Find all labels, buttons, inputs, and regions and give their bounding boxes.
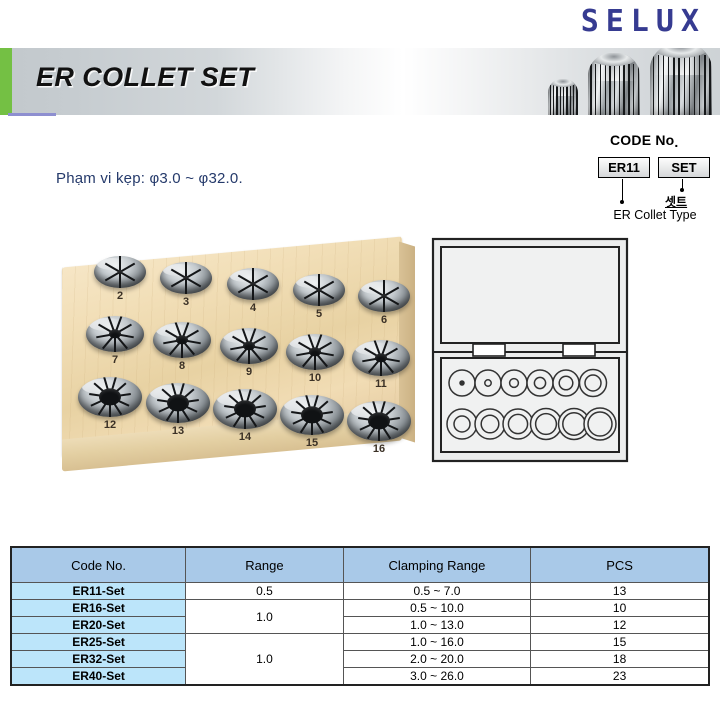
- banner-collet-slit: [573, 85, 574, 115]
- banner-collet-slit: [570, 85, 571, 115]
- leader-dot-left: [620, 200, 624, 204]
- collet-bore: [167, 394, 189, 411]
- collet-9: 9: [220, 328, 278, 364]
- col-header-clamping-range: Clamping Range: [343, 547, 530, 583]
- collet-number-label: 11: [352, 378, 410, 390]
- collet-number-label: 6: [358, 314, 410, 326]
- collet-body: [94, 256, 146, 288]
- banner-accent-bar: [0, 48, 12, 115]
- collet-15: 15: [280, 395, 344, 435]
- collet-number-label: 12: [78, 419, 142, 431]
- collet-slit: [185, 278, 187, 294]
- cell-pcs: 18: [531, 651, 709, 668]
- collet-body: [153, 322, 211, 358]
- cell-pcs: 13: [531, 583, 709, 600]
- collet-bore: [99, 388, 121, 405]
- banner-collet-slit: [560, 85, 561, 115]
- collet-body: [213, 389, 277, 429]
- code-no-legend-title: CODE No.: [610, 132, 679, 148]
- collet-number-label: 15: [280, 437, 344, 449]
- banner-underline: [8, 113, 56, 116]
- collet-6: 6: [358, 280, 410, 312]
- table-row: ER32-Set2.0 ~ 20.018: [11, 651, 709, 668]
- banner-collet-slit: [609, 64, 610, 115]
- banner-collet-slit: [550, 85, 551, 115]
- collet-slit: [252, 284, 254, 300]
- collet-slit: [318, 290, 320, 306]
- cell-code-no: ER25-Set: [11, 634, 186, 651]
- banner-collet-slit: [566, 85, 567, 115]
- banner-collet-slit: [553, 85, 554, 115]
- cell-range: 0.5: [186, 583, 344, 600]
- banner-collet-slit: [668, 55, 669, 115]
- collet-bore: [184, 276, 189, 280]
- leader-line-left: [622, 179, 623, 201]
- spec-table-header-row: Code No. Range Clamping Range PCS: [11, 547, 709, 583]
- cell-code-no: ER16-Set: [11, 600, 186, 617]
- collet-5: 5: [293, 274, 345, 306]
- table-row: ER20-Set1.0 ~ 13.012: [11, 617, 709, 634]
- banner-collet-3: [650, 48, 712, 115]
- spec-table: Code No. Range Clamping Range PCS ER11-S…: [10, 546, 710, 686]
- banner-collet-slit: [689, 55, 690, 115]
- collet-number-label: 7: [86, 354, 144, 366]
- banner-collet-slit: [663, 55, 664, 115]
- leader-dot-right: [680, 188, 684, 192]
- code-type-caption: ER Collet Type: [596, 208, 714, 222]
- cell-clamping-range: 0.5 ~ 10.0: [343, 600, 530, 617]
- banner-collet-slit: [605, 64, 606, 115]
- collet-body: [280, 395, 344, 435]
- title-banner: ER COLLET SET: [0, 48, 720, 115]
- banner-collet-top: [591, 53, 637, 66]
- collet-8: 8: [153, 322, 211, 358]
- collet-bore: [234, 400, 256, 417]
- collet-13: 13: [146, 383, 210, 423]
- collet-case-drawing: [430, 236, 630, 464]
- cell-pcs: 10: [531, 600, 709, 617]
- collet-10: 10: [286, 334, 344, 370]
- banner-collet-slit: [590, 64, 591, 115]
- collet-3: 3: [160, 262, 212, 294]
- collet-4: 4: [227, 268, 279, 300]
- banner-collet-slit: [576, 85, 577, 115]
- banner-collet-slit: [628, 64, 629, 115]
- banner-collet-slit: [678, 55, 679, 115]
- collet-2: 2: [94, 256, 146, 288]
- collet-bore: [118, 270, 123, 274]
- table-row: ER40-Set3.0 ~ 26.023: [11, 668, 709, 686]
- spec-table-body: ER11-Set0.50.5 ~ 7.013ER16-Set1.00.5 ~ 1…: [11, 583, 709, 686]
- spec-table-wrapper: Code No. Range Clamping Range PCS ER11-S…: [10, 546, 710, 686]
- collet-body: [293, 274, 345, 306]
- cell-code-no: ER11-Set: [11, 583, 186, 600]
- collet-number-label: 16: [347, 443, 411, 455]
- collet-body: [86, 316, 144, 352]
- banner-collet-slit: [623, 64, 624, 115]
- banner-collet-slit: [563, 85, 564, 115]
- cell-pcs: 23: [531, 668, 709, 686]
- collet-bore: [251, 282, 256, 286]
- collet-number-label: 9: [220, 366, 278, 378]
- collet-number-label: 5: [293, 308, 345, 320]
- collet-body: [78, 377, 142, 417]
- collet-slit: [119, 272, 121, 288]
- collet-body: [286, 334, 344, 370]
- banner-collet-slit: [694, 55, 695, 115]
- collet-slit: [383, 296, 385, 312]
- cell-code-no: ER20-Set: [11, 617, 186, 634]
- collet-number-label: 4: [227, 302, 279, 314]
- cell-code-no: ER40-Set: [11, 668, 186, 686]
- banner-collet-slit: [709, 55, 710, 115]
- collet-number-label: 13: [146, 425, 210, 437]
- collet-bore: [301, 406, 323, 423]
- collet-12: 12: [78, 377, 142, 417]
- logo-bar: SELUX: [0, 0, 720, 48]
- collet-number-label: 3: [160, 296, 212, 308]
- code-no-legend: CODE No. ER11 SET 셋트 ER Collet Type: [596, 132, 714, 224]
- code-box-set: SET: [658, 157, 710, 178]
- collet-bore: [382, 294, 387, 298]
- cell-pcs: 15: [531, 634, 709, 651]
- banner-collet-body: [548, 79, 578, 115]
- cell-range: 1.0: [186, 600, 344, 634]
- collet-body: [358, 280, 410, 312]
- table-row: ER16-Set1.00.5 ~ 10.010: [11, 600, 709, 617]
- table-row: ER11-Set0.50.5 ~ 7.013: [11, 583, 709, 600]
- page-title: ER COLLET SET: [36, 62, 254, 93]
- table-row: ER25-Set1.01.0 ~ 16.015: [11, 634, 709, 651]
- banner-collet-slit: [595, 64, 596, 115]
- banner-collet-slit: [619, 64, 620, 115]
- banner-collet-slit: [633, 64, 634, 115]
- banner-collet-slit: [614, 64, 615, 115]
- cell-clamping-range: 2.0 ~ 20.0: [343, 651, 530, 668]
- banner-collet-1: [548, 79, 578, 115]
- banner-collet-slit: [600, 64, 601, 115]
- spec-table-head: Code No. Range Clamping Range PCS: [11, 547, 709, 583]
- banner-collet-slit: [653, 55, 654, 115]
- code-box-er11: ER11: [598, 157, 650, 178]
- collet-number-label: 10: [286, 372, 344, 384]
- case-drawing-svg: [430, 236, 630, 464]
- banner-collet-slit: [658, 55, 659, 115]
- collet-set-stand-photo: 2345678910111213141516: [62, 234, 414, 490]
- cell-clamping-range: 3.0 ~ 26.0: [343, 668, 530, 686]
- collet-number-label: 14: [213, 431, 277, 443]
- banner-collet-body: [650, 48, 712, 115]
- col-header-pcs: PCS: [531, 547, 709, 583]
- col-header-range: Range: [186, 547, 344, 583]
- cell-range: 1.0: [186, 634, 344, 686]
- banner-collet-slit: [673, 55, 674, 115]
- cell-code-no: ER32-Set: [11, 651, 186, 668]
- collet-14: 14: [213, 389, 277, 429]
- brand-logo: SELUX: [581, 4, 706, 39]
- collet-body: [146, 383, 210, 423]
- collet-16: 16: [347, 401, 411, 441]
- cell-pcs: 12: [531, 617, 709, 634]
- collet-number-label: 8: [153, 360, 211, 372]
- banner-collet-slit: [556, 85, 557, 115]
- collet-7: 7: [86, 316, 144, 352]
- collet-bore: [317, 288, 322, 292]
- banner-collet-slit: [638, 64, 639, 115]
- banner-collet-slit: [684, 55, 685, 115]
- banner-collet-slit: [699, 55, 700, 115]
- col-header-code-no: Code No.: [11, 547, 186, 583]
- collet-body: [160, 262, 212, 294]
- banner-collet-body: [588, 53, 640, 115]
- collet-body: [352, 340, 410, 376]
- banner-collet-slit: [704, 55, 705, 115]
- clamping-range-note: Phạm vi kẹp: φ3.0 ~ φ32.0.: [56, 170, 243, 187]
- collet-body: [347, 401, 411, 441]
- collet-11: 11: [352, 340, 410, 376]
- collet-bore: [368, 412, 390, 429]
- collet-body: [220, 328, 278, 364]
- cell-clamping-range: 1.0 ~ 13.0: [343, 617, 530, 634]
- cell-clamping-range: 1.0 ~ 16.0: [343, 634, 530, 651]
- banner-collet-2: [588, 53, 640, 115]
- cell-clamping-range: 0.5 ~ 7.0: [343, 583, 530, 600]
- collet-body: [227, 268, 279, 300]
- collet-number-label: 2: [94, 290, 146, 302]
